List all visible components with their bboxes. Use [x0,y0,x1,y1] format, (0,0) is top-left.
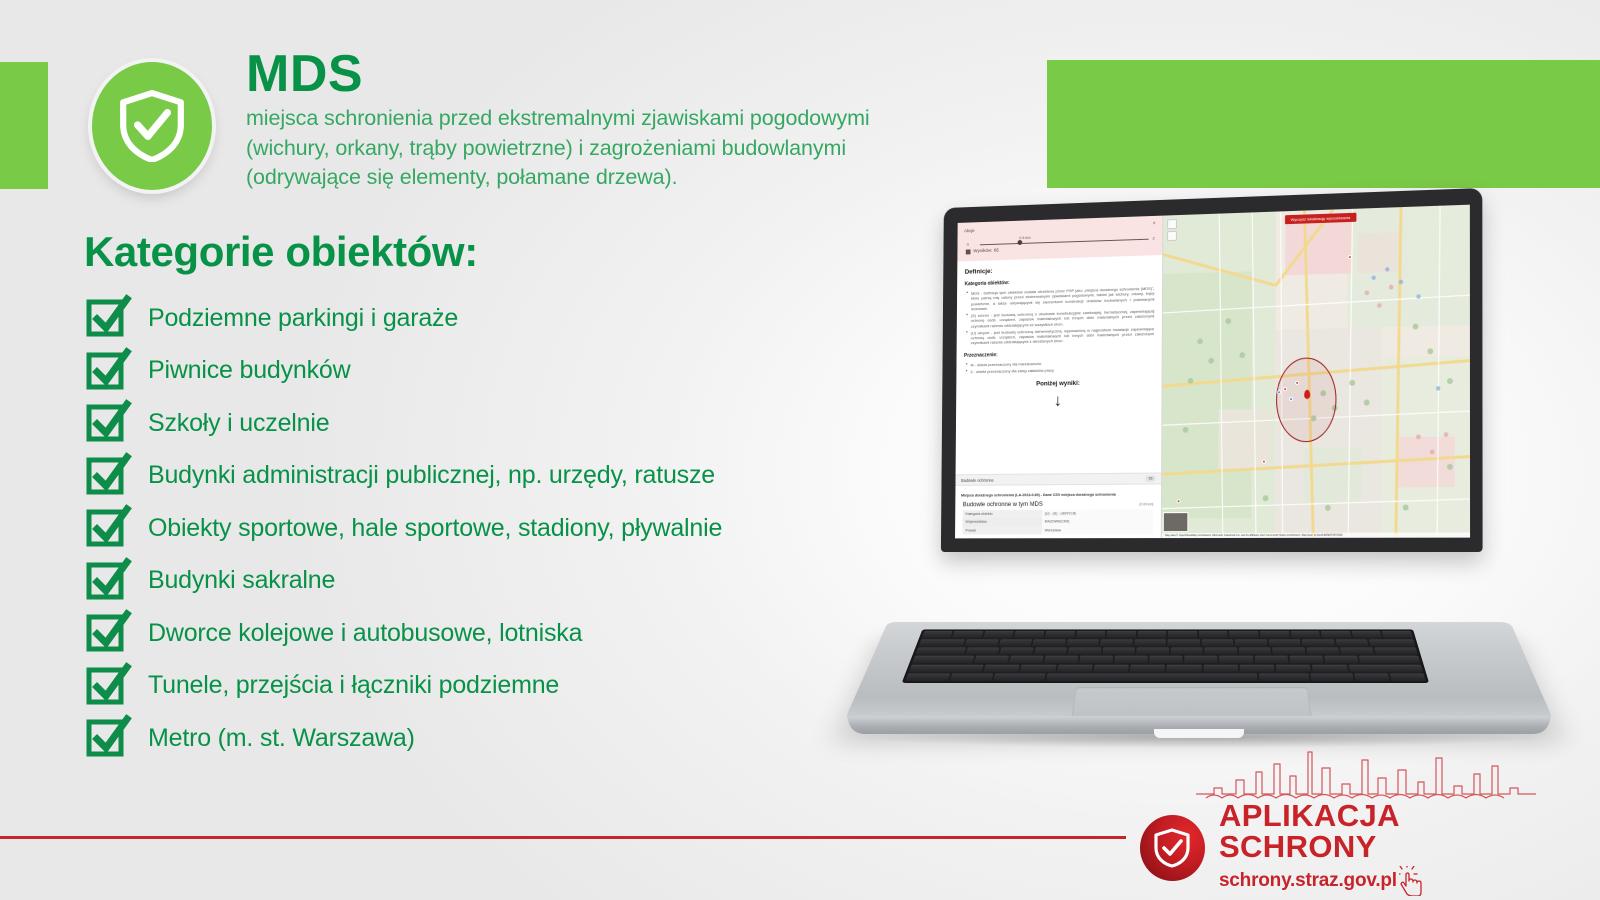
key[interactable] [999,639,1033,646]
laptop-notch [1154,729,1244,738]
down-arrow-icon: ↓ [964,391,1154,411]
key[interactable] [1335,639,1368,646]
table-cell-value: Warszawa [1042,526,1154,535]
key[interactable] [1312,665,1348,673]
key[interactable] [1374,647,1418,654]
slider-min-label: 0 [967,242,969,247]
key[interactable] [1340,647,1374,654]
key[interactable] [974,656,1009,664]
key[interactable] [1276,665,1312,673]
key[interactable] [1114,656,1148,664]
results-count-label: Wyników: 65 [973,249,999,255]
key[interactable] [1205,647,1237,654]
keyboard-row [918,639,1415,646]
key[interactable] [965,639,999,646]
list-item-label: Obiekty sportowe, hale sportowe, stadion… [148,514,722,543]
key[interactable] [1171,647,1203,654]
key[interactable] [983,631,1014,638]
key[interactable] [1168,631,1197,638]
laptop-body [842,622,1556,726]
app-side-panel: Akcje × 0.5 km 0 2 Wyników: 65 [955,216,1164,539]
map-attribution: Map data © OpenStreetMap contributors, M… [1162,532,1470,538]
home-icon[interactable] [1167,219,1177,229]
key[interactable] [1219,656,1253,664]
list-item-label: Dworce kolejowe i autobusowe, lotniska [148,619,582,648]
table-row: Powiat Warszawa [963,526,1154,535]
key[interactable] [1136,647,1169,654]
list-item-label: Budynki sakralne [148,566,335,595]
below-results-label: Poniżej wyniki: [964,379,1154,389]
subtitle-line-2: (wichury, orkany, trąby powietrzne) i za… [246,134,1036,164]
checkbox-checked-icon [86,506,132,550]
checkbox-checked-icon [86,296,132,340]
definition-bullet: (U) ukrycie - jest budowlą ochronną nieh… [971,326,1155,346]
key[interactable] [1106,631,1136,638]
key[interactable] [1076,631,1106,638]
key[interactable] [1254,656,1288,664]
map-controls[interactable] [1167,219,1177,243]
key[interactable] [1229,631,1258,638]
list-item: Tunele, przejścia i łączniki podziemne [86,660,916,713]
laptop-base [838,548,1560,766]
laptop-lid: Akcje × 0.5 km 0 2 Wyników: 65 [941,188,1483,552]
shield-check-icon [119,90,185,162]
checkbox-checked-icon [86,401,132,445]
list-item: Piwnice budynków [86,345,916,398]
table-cell-key: Powiat [963,526,1042,534]
key[interactable] [1057,665,1093,673]
checkbox-checked-icon [86,559,132,603]
key[interactable] [1044,656,1079,664]
list-item-label: Metro (m. st. Warszawa) [148,724,415,753]
definitions-bullet-list: MDS - Definicja tych obiektów została ok… [964,286,1154,346]
key[interactable] [1009,656,1044,664]
key[interactable] [1066,639,1099,646]
key[interactable] [1302,639,1335,646]
key[interactable] [912,656,974,664]
key[interactable] [952,631,983,638]
list-item-label: Tunele, przejścia i łączniki podziemne [148,671,559,700]
keyboard[interactable] [901,629,1428,683]
brand-row: APLIKACJA SCHRONY schrony.straz.gov.pl [1140,800,1560,896]
key[interactable] [1324,656,1359,664]
brand-url[interactable]: schrony.straz.gov.pl [1219,870,1397,892]
key[interactable] [918,639,965,646]
key[interactable] [1348,665,1423,673]
categories-list: Podziemne parkingi i garaże Piwnice budy… [86,292,916,765]
brand-block: APLIKACJA SCHRONY schrony.straz.gov.pl [1140,742,1560,892]
key[interactable] [1130,665,1165,673]
definition-bullet: MDS - Definicja tych obiektów została ok… [971,286,1154,312]
table-cell-key: Województwo [963,518,1042,526]
keyboard-row [922,631,1413,638]
key[interactable] [1168,639,1200,646]
laptop-mockup: Akcje × 0.5 km 0 2 Wyników: 65 [838,196,1560,766]
city-skyline-icon [1196,742,1536,804]
key[interactable] [1311,673,1354,681]
key[interactable] [1201,639,1233,646]
key[interactable] [1259,673,1310,681]
key[interactable] [1306,647,1339,654]
key[interactable] [1137,631,1166,638]
categories-heading: Kategorie obiektów: [84,228,478,276]
brand-url-row[interactable]: schrony.straz.gov.pl [1219,866,1560,896]
keyboard-row [915,647,1417,654]
key[interactable] [949,673,993,681]
key[interactable] [915,647,966,654]
key[interactable] [922,631,953,638]
checkbox-checked-icon [86,454,132,498]
left-green-bar [0,62,48,189]
brand-shield-badge [1140,815,1205,881]
purpose-list: M - obiekt przeznaczony dla mieszkańców … [964,358,1154,374]
shield-check-icon [1154,828,1190,868]
key[interactable] [1351,631,1382,638]
checkbox-checked-icon [86,664,132,708]
table-title: Budowle ochronne w tym MDS [963,501,1043,508]
right-green-bar [1047,60,1600,188]
result-table: Budowle ochronne w tym MDS (0.00 km) Kat… [963,500,1154,534]
key[interactable] [1268,639,1301,646]
table-distance: (0.00 km) [1139,502,1153,506]
key[interactable] [1000,647,1034,654]
key[interactable] [1149,656,1182,664]
list-item: Metro (m. st. Warszawa) [86,712,916,765]
key[interactable] [908,665,983,673]
key[interactable] [1260,631,1290,638]
list-item: Podziemne parkingi i garaże [86,292,916,345]
key[interactable] [1068,647,1101,654]
list-item-label: Szkoły i uczelnie [148,409,329,438]
key[interactable] [1369,639,1415,646]
key[interactable] [1102,647,1135,654]
brand-text: APLIKACJA SCHRONY schrony.straz.gov.pl [1219,800,1560,896]
key[interactable] [1079,656,1113,664]
key[interactable] [1134,639,1166,646]
key[interactable] [993,673,1045,681]
checkbox-checked-icon [86,349,132,393]
list-item: Budynki administracji publicznej, np. ur… [86,450,916,503]
key[interactable] [905,673,950,681]
key[interactable] [1203,665,1238,673]
map-minimap[interactable] [1163,512,1189,532]
collapse-section-header[interactable]: Budowle ochronne 65 [955,473,1161,486]
key[interactable] [1235,639,1267,646]
key[interactable] [983,665,1020,673]
header-text-block: MDS miejsca schronienia przed ekstremaln… [246,48,1036,193]
map-view[interactable]: Wyczyść lokalizację wyszukiwania Map dat… [1162,205,1470,538]
key[interactable] [1100,639,1133,646]
list-item: Szkoły i uczelnie [86,397,916,450]
key[interactable] [1185,656,1218,664]
collapse-count-badge: 65 [1146,476,1156,482]
table-cell-value: MAZOWIECKIE [1042,517,1154,526]
page-title: MDS [246,48,1036,100]
definitions-heading: Definicje: [965,263,1155,276]
key[interactable] [1014,631,1045,638]
map-poi-marker[interactable] [1295,380,1299,384]
key[interactable] [1390,673,1426,681]
key[interactable] [1167,665,1202,673]
space-key[interactable] [1046,673,1257,681]
click-cursor-icon [1399,866,1425,896]
slider-handle[interactable] [1017,240,1022,245]
key[interactable] [1199,631,1228,638]
subtitle-line-3: (odrywające się elementy, połamane drzew… [246,163,1036,193]
panel-header: Akcje × 0.5 km 0 2 Wyników: 65 [957,216,1162,262]
subtitle-line-1: miejsca schronienia przed ekstremalnymi … [246,104,1036,134]
purpose-heading: Przeznaczenie: [964,349,1154,359]
key[interactable] [1093,665,1129,673]
map-poi-marker[interactable] [1348,255,1352,259]
list-item: Budynki sakralne [86,555,916,608]
list-item: Obiekty sportowe, hale sportowe, stadion… [86,502,916,555]
table-cell-key: Kategoria obiektu [963,510,1042,519]
key[interactable] [1239,665,1274,673]
list-item-label: Budynki administracji publicznej, np. ur… [148,461,715,490]
list-item-label: Piwnice budynków [148,356,350,385]
laptop-screen: Akcje × 0.5 km 0 2 Wyników: 65 [955,205,1470,539]
key[interactable] [1045,631,1075,638]
source-dataset-line: Miejsca doraźnego schronienia (LA-2023-0… [961,492,1155,497]
key[interactable] [1034,647,1068,654]
checkbox-checked-icon [86,716,132,760]
key[interactable] [1033,639,1066,646]
key[interactable] [966,647,1000,654]
page-subtitle: miejsca schronienia przed ekstremalnymi … [246,104,1036,193]
grid-icon [966,249,971,254]
key[interactable] [1382,631,1413,638]
key[interactable] [1321,631,1351,638]
key[interactable] [1020,665,1056,673]
footer-divider [0,836,1126,839]
map-poi-marker[interactable] [1262,459,1266,463]
purpose-item: Z - obiekt przeznaczony dla załóg zakład… [970,366,1154,375]
key[interactable] [1359,656,1421,664]
key[interactable] [1289,656,1323,664]
key[interactable] [1239,647,1272,654]
panel-tab-title: Akcje [964,228,975,233]
keyboard-row [912,656,1420,664]
collapse-label: Budowle ochronne [961,477,994,482]
key[interactable] [1272,647,1305,654]
brand-name: APLIKACJA SCHRONY [1219,800,1560,862]
layers-icon[interactable] [1167,231,1177,241]
checkbox-checked-icon [86,611,132,655]
list-item: Dworce kolejowe i autobusowe, lotniska [86,607,916,660]
key[interactable] [1290,631,1320,638]
close-icon[interactable]: × [1153,221,1156,227]
list-item-label: Podziemne parkingi i garaże [148,304,458,333]
slider-max-label: 2 [1152,236,1154,241]
keyboard-row [908,665,1422,673]
header-shield-badge [92,62,212,190]
panel-body: Definicje: Kategoria obiektów: MDS - Def… [956,255,1162,414]
key[interactable] [1354,673,1389,681]
keyboard-row [905,673,1426,681]
definition-bullet: (S) schron - jest budowlą ochronną o obu… [971,308,1155,328]
